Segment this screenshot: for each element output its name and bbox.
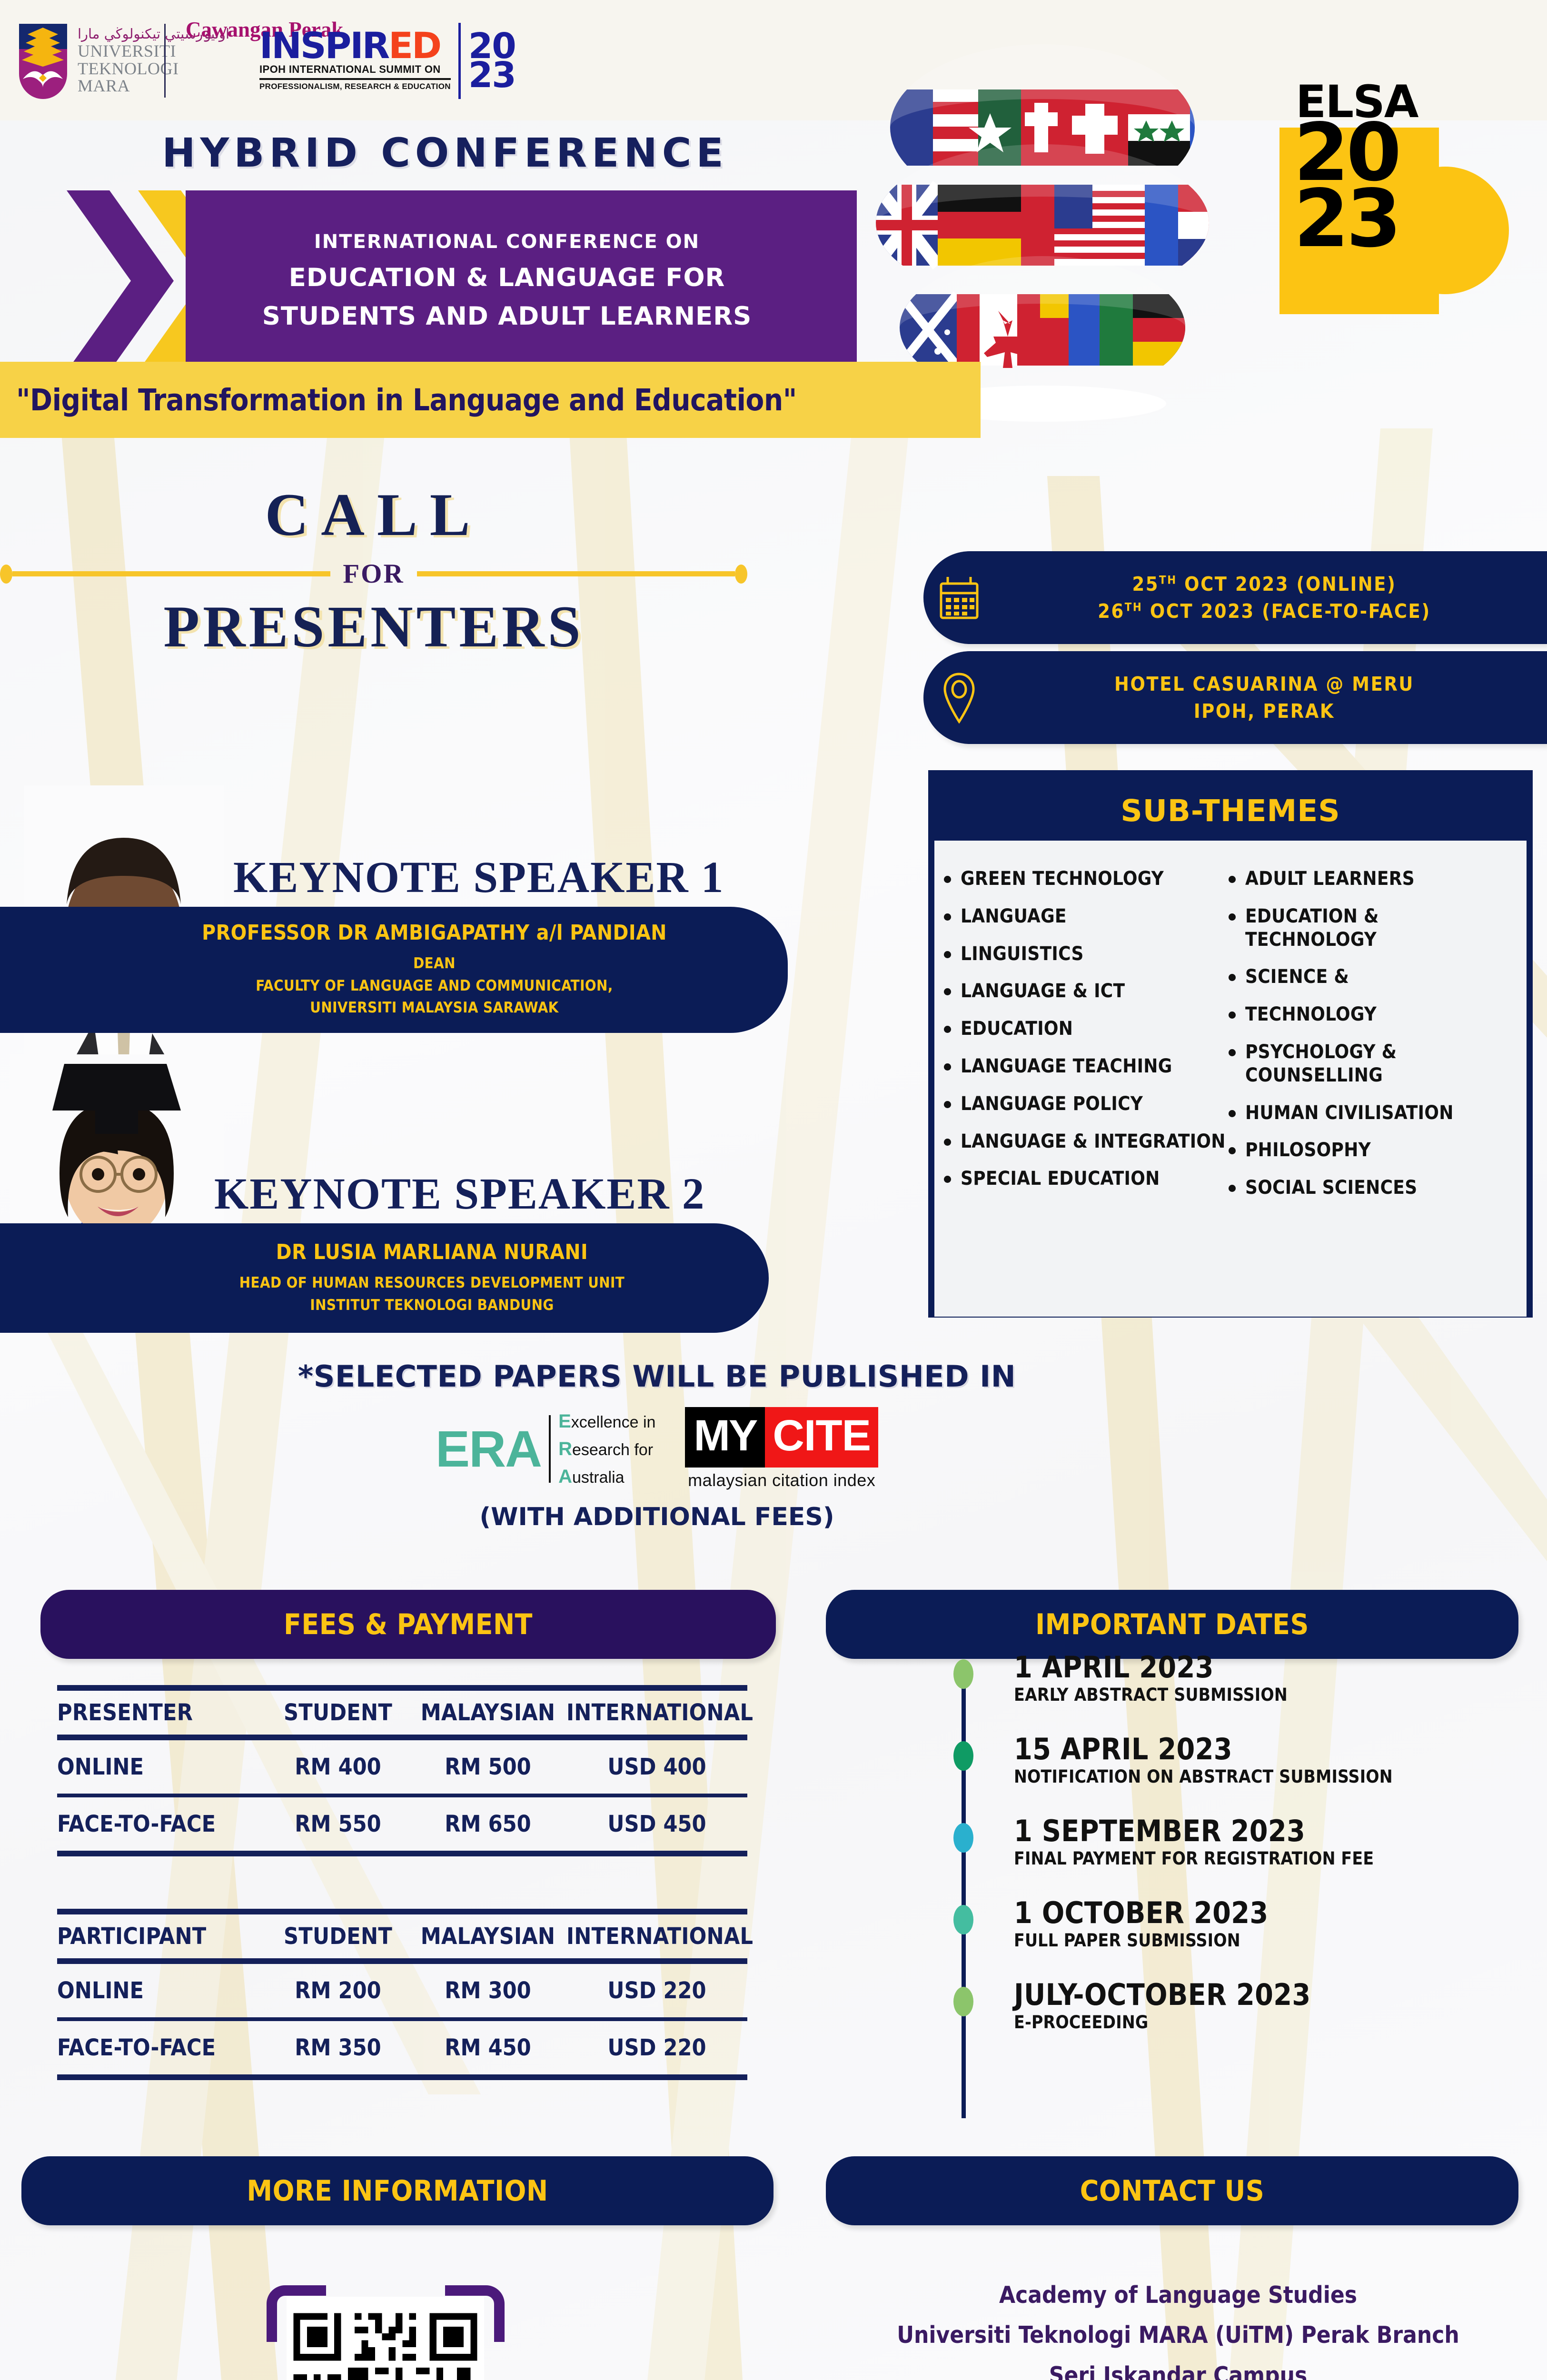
table-row-label: ONLINE [57, 1977, 267, 2004]
bullet-icon [944, 1026, 951, 1033]
call-word: CALL [0, 481, 747, 550]
event-date-line-2: 26TH OCT 2023 (FACE-TO-FACE) [995, 598, 1534, 625]
timeline-dot [953, 1987, 973, 2016]
table-header-cell: MALAYSIAN [409, 1923, 566, 1950]
subtheme-item: LANGUAGE & INTEGRATION [944, 1130, 1226, 1153]
inspired-word-b: ED [388, 24, 440, 67]
subtheme-label: EDUCATION [961, 1017, 1073, 1041]
era-line-1: Excellence in [558, 1408, 655, 1435]
timeline-item: 1 SEPTEMBER 2023FINAL PAYMENT FOR REGIST… [962, 1815, 1533, 1869]
timeline-item: 1 APRIL 2023EARLY ABSTRACT SUBMISSION [962, 1652, 1533, 1705]
conference-line-2: EDUCATION & LANGUAGE FOR [289, 263, 725, 292]
table-header-row: PARTICIPANTSTUDENTMALAYSIANINTERNATIONAL [57, 1914, 747, 1958]
table-cell-value: USD 400 [566, 1754, 747, 1780]
subtheme-item: EDUCATION & TECHNOLOGY [1229, 905, 1510, 952]
event-venue-text: HOTEL CASUARINA @ MERU IPOH, PERAK [995, 671, 1547, 724]
contact-section-title: CONTACT US [1080, 2174, 1265, 2208]
bullet-icon [1229, 1110, 1236, 1117]
timeline-axis [962, 1661, 966, 2118]
divider-cap-left [0, 565, 12, 584]
table-cell-value: RM 300 [409, 1977, 566, 2004]
era-line-1-initial: E [558, 1411, 571, 1432]
table-cell-value: RM 500 [409, 1754, 566, 1780]
location-pin-icon [923, 672, 995, 724]
era-divider [549, 1415, 551, 1483]
subtheme-item: PSYCHOLOGY & COUNSELLING [1229, 1041, 1510, 1087]
subthemes-title: SUB-THEMES [934, 776, 1527, 841]
table-header-cell: INTERNATIONAL [566, 1923, 747, 1950]
subtheme-item: LANGUAGE & ICT [944, 980, 1226, 1003]
table-rule [57, 2017, 747, 2021]
table-cell-value: USD 220 [566, 1977, 747, 2004]
table-header-cell: MALAYSIAN [409, 1699, 566, 1726]
subtheme-label: GREEN TECHNOLOGY [961, 867, 1164, 891]
more-info-section-header: MORE INFORMATION [21, 2156, 773, 2225]
summit-subtitle-2: PROFESSIONALISM, RESEARCH & EDUCATION [259, 82, 451, 91]
timeline-label: E-PROCEEDING [1014, 2012, 1533, 2033]
university-name-line-3: MARA [78, 77, 229, 95]
mycite-logo: MY CITE malaysian citation index [685, 1407, 878, 1490]
era-line-3-initial: A [558, 1466, 572, 1487]
table-rule [57, 1685, 747, 1691]
era-line-2: Research for [558, 1435, 655, 1463]
subtheme-label: LANGUAGE & ICT [961, 980, 1125, 1003]
important-dates-section-title: IMPORTANT DATES [1035, 1608, 1309, 1641]
inspired-wordmark: INSPIRED [259, 30, 440, 61]
mycite-my-block: MY [685, 1407, 765, 1468]
inspired-word-a: INSPIR [259, 24, 388, 67]
divider-cap-right [735, 565, 747, 584]
table-header-cell: PARTICIPANT [57, 1923, 267, 1950]
timeline-date: 15 APRIL 2023 [1014, 1734, 1533, 1765]
subtheme-label: EDUCATION & TECHNOLOGY [1245, 905, 1510, 952]
important-dates-timeline: 1 APRIL 2023EARLY ABSTRACT SUBMISSION15 … [962, 1652, 1533, 2061]
timeline-label: FULL PAPER SUBMISSION [1014, 1930, 1533, 1951]
subtheme-item: LANGUAGE [944, 905, 1226, 928]
era-line-2-initial: R [558, 1438, 572, 1459]
conference-title-band: INTERNATIONAL CONFERENCE ON EDUCATION & … [0, 190, 857, 371]
publication-logos: ERA Excellence in Research for Australia… [205, 1407, 1109, 1490]
subtheme-label: SCIENCE & [1245, 965, 1349, 989]
event-date-badge: 25TH OCT 2023 (ONLINE) 26TH OCT 2023 (FA… [923, 551, 1547, 644]
table-header-cell: STUDENT [267, 1923, 409, 1950]
table-cell-value: RM 350 [267, 2034, 409, 2061]
era-logo: ERA Excellence in Research for Australia [436, 1408, 655, 1490]
contact-line: Academy of Language Studies [838, 2275, 1518, 2315]
qr-code-icon[interactable] [287, 2297, 484, 2380]
table-header-row: PRESENTERSTUDENTMALAYSIANINTERNATIONAL [57, 1691, 747, 1735]
speaker-2-name: DR LUSIA MARLIANA NURANI [276, 1240, 588, 1264]
elsa-logo: ELSA 20 23 [1276, 76, 1476, 362]
conference-theme: "Digital Transformation in Language and … [16, 383, 797, 417]
timeline-item: 1 OCTOBER 2023FULL PAPER SUBMISSION [962, 1897, 1533, 1951]
event-date-text: 25TH OCT 2023 (ONLINE) 26TH OCT 2023 (FA… [995, 571, 1547, 625]
event-venue-badge: HOTEL CASUARINA @ MERU IPOH, PERAK [923, 651, 1547, 744]
event-date-line-1: 25TH OCT 2023 (ONLINE) [995, 571, 1534, 598]
poster-canvas: اونيۏرسيتي تيكنولوڬي مارا UNIVERSITI TEK… [0, 0, 1547, 2380]
speaker-1-role-2: FACULTY OF LANGUAGE AND COMMUNICATION, [256, 975, 613, 997]
calendar-icon [923, 575, 995, 621]
subtheme-label: TECHNOLOGY [1245, 1003, 1377, 1026]
speaker-1-role-1: DEAN [413, 952, 456, 975]
timeline-label: EARLY ABSTRACT SUBMISSION [1014, 1685, 1533, 1705]
speaker-2-role-2: INSTITUT TEKNOLOGI BANDUNG [310, 1294, 554, 1317]
subtheme-label: ADULT LEARNERS [1245, 867, 1415, 891]
hybrid-conference-title: HYBRID CONFERENCE [0, 129, 890, 176]
bullet-icon [944, 913, 951, 921]
table-cell-value: RM 550 [267, 1811, 409, 1837]
subtheme-label: PHILOSOPHY [1245, 1139, 1371, 1162]
mycite-blocks: MY CITE [685, 1407, 878, 1468]
table-row: ONLINERM 400RM 500USD 400 [57, 1740, 747, 1794]
timeline-date: 1 SEPTEMBER 2023 [1014, 1815, 1533, 1846]
era-line-3: Australia [558, 1463, 655, 1490]
conference-title-text: INTERNATIONAL CONFERENCE ON EDUCATION & … [190, 190, 823, 371]
contact-line: Universiti Teknologi MARA (UiTM) Perak B… [838, 2315, 1518, 2355]
table-row: FACE-TO-FACERM 550RM 650USD 450 [57, 1797, 747, 1851]
date1-number: 25 [1132, 573, 1160, 595]
contact-details: Academy of Language StudiesUniversiti Te… [838, 2275, 1518, 2380]
speaker-2-card: DR LUSIA MARLIANA NURANI HEAD OF HUMAN R… [0, 1223, 769, 1333]
publication-footnote: (WITH ADDITIONAL FEES) [205, 1503, 1109, 1531]
subtheme-label: LANGUAGE [961, 905, 1067, 928]
timeline-dot [953, 1741, 973, 1771]
subtheme-label: SPECIAL EDUCATION [961, 1167, 1160, 1190]
speaker-2-title: KEYNOTE SPEAKER 2 [214, 1169, 705, 1220]
subtheme-item: PHILOSOPHY [1229, 1139, 1510, 1162]
date2-suffix: TH [1125, 600, 1143, 614]
more-info-section-title: MORE INFORMATION [247, 2174, 548, 2208]
era-acronym: ERA [436, 1419, 541, 1478]
bullet-icon [944, 1101, 951, 1108]
bullet-icon [1229, 876, 1236, 883]
speaker-2-role-1: HEAD OF HUMAN RESOURCES DEVELOPMENT UNIT [239, 1272, 625, 1294]
summit-subtitle-1: IPOH INTERNATIONAL SUMMIT ON [259, 63, 441, 76]
bullet-icon [944, 876, 951, 883]
table-rule [57, 1851, 747, 1856]
conference-line-1: INTERNATIONAL CONFERENCE ON [314, 231, 700, 253]
subtheme-item: SPECIAL EDUCATION [944, 1167, 1226, 1190]
date2-rest: OCT 2023 (FACE-TO-FACE) [1142, 600, 1430, 623]
table-header-cell: PRESENTER [57, 1699, 267, 1726]
bullet-icon [1229, 1049, 1236, 1056]
timeline-item: JULY-OCTOBER 2023E-PROCEEDING [962, 1979, 1533, 2033]
subthemes-panel: SUB-THEMES GREEN TECHNOLOGYLANGUAGELINGU… [928, 770, 1533, 1318]
summit-divider [259, 78, 451, 80]
mycite-subtitle: malaysian citation index [688, 1470, 875, 1490]
table-cell-value: RM 400 [267, 1754, 409, 1780]
subtheme-label: PSYCHOLOGY & COUNSELLING [1245, 1041, 1510, 1087]
table-rule [57, 1958, 747, 1964]
date1-rest: OCT 2023 (ONLINE) [1177, 573, 1397, 595]
logo-divider [164, 24, 166, 98]
mycite-cite-block: CITE [765, 1407, 878, 1468]
table-row: FACE-TO-FACERM 350RM 450USD 220 [57, 2021, 747, 2074]
subtheme-item: ADULT LEARNERS [1229, 867, 1510, 891]
bullet-icon [944, 1063, 951, 1071]
timeline-label: NOTIFICATION ON ABSTRACT SUBMISSION [1014, 1766, 1533, 1787]
subtheme-item: EDUCATION [944, 1017, 1226, 1041]
table-row-label: FACE-TO-FACE [57, 2034, 267, 2061]
theme-strip: "Digital Transformation in Language and … [0, 362, 981, 438]
subtheme-label: HUMAN CIVILISATION [1245, 1101, 1454, 1125]
venue-line-1: HOTEL CASUARINA @ MERU [995, 671, 1534, 698]
elsa-year-bottom: 23 [1294, 186, 1398, 252]
era-expansion: Excellence in Research for Australia [558, 1408, 655, 1490]
venue-line-2: IPOH, PERAK [995, 698, 1534, 725]
speaker-1-title: KEYNOTE SPEAKER 1 [233, 852, 724, 903]
speaker-1-name: PROFESSOR DR AMBIGAPATHY a/l PANDIAN [202, 921, 667, 945]
university-name-line-1: UNIVERSITI [78, 42, 229, 60]
uitm-shield-icon [18, 23, 68, 99]
subtheme-label: LANGUAGE & INTEGRATION [961, 1130, 1226, 1153]
publication-section: *SELECTED PAPERS WILL BE PUBLISHED IN ER… [205, 1359, 1109, 1531]
table-cell-value: RM 450 [409, 2034, 566, 2061]
fees-table-participant: PARTICIPANTSTUDENTMALAYSIANINTERNATIONAL… [57, 1909, 747, 2080]
subthemes-column-right: ADULT LEARNERSEDUCATION & TECHNOLOGYSCIE… [1229, 867, 1510, 1307]
table-rule [57, 1735, 747, 1740]
elsa-year: 20 23 [1294, 120, 1398, 252]
timeline-label: FINAL PAYMENT FOR REGISTRATION FEE [1014, 1848, 1533, 1869]
fees-section-header: FEES & PAYMENT [40, 1590, 776, 1659]
subtheme-item: SCIENCE & [1229, 965, 1510, 989]
fees-table-presenter: PRESENTERSTUDENTMALAYSIANINTERNATIONALON… [57, 1685, 747, 1856]
bullet-icon [944, 988, 951, 995]
conference-line-3: STUDENTS AND ADULT LEARNERS [262, 302, 752, 331]
subthemes-list-container: GREEN TECHNOLOGYLANGUAGELINGUISTICSLANGU… [934, 841, 1527, 1317]
subtheme-item: LANGUAGE TEACHING [944, 1055, 1226, 1078]
publication-headline: *SELECTED PAPERS WILL BE PUBLISHED IN [205, 1359, 1109, 1394]
university-name-line-2: TEKNOLOGI [78, 60, 229, 78]
bullet-icon [1229, 913, 1236, 921]
bullet-icon [1229, 1185, 1236, 1192]
subtheme-item: HUMAN CIVILISATION [1229, 1101, 1510, 1125]
date2-number: 26 [1098, 600, 1125, 623]
subtheme-item: GREEN TECHNOLOGY [944, 867, 1226, 891]
subtheme-item: LANGUAGE POLICY [944, 1092, 1226, 1116]
divider-rule-left [12, 571, 330, 576]
subtheme-label: SOCIAL SCIENCES [1245, 1176, 1417, 1200]
era-line-3-rest: ustralia [572, 1468, 625, 1487]
table-cell-value: USD 450 [566, 1811, 747, 1837]
call-for-presenters: CALL FOR PRESENTERS [0, 481, 747, 661]
subthemes-column-left: GREEN TECHNOLOGYLANGUAGELINGUISTICSLANGU… [944, 867, 1226, 1307]
timeline-date: 1 OCTOBER 2023 [1014, 1897, 1533, 1928]
timeline-dot [953, 1659, 973, 1689]
for-word: FOR [330, 558, 416, 589]
table-row: ONLINERM 200RM 300USD 220 [57, 1964, 747, 2017]
subtheme-label: LINGUISTICS [961, 942, 1084, 966]
summit-vertical-bar [458, 23, 461, 99]
for-divider-row: FOR [0, 558, 747, 589]
important-dates-section-header: IMPORTANT DATES [826, 1590, 1518, 1659]
qr-code-block[interactable] [267, 2285, 505, 2380]
bullet-icon [944, 1176, 951, 1183]
table-header-cell: STUDENT [267, 1699, 409, 1726]
timeline-items: 1 APRIL 2023EARLY ABSTRACT SUBMISSION15 … [962, 1652, 1533, 2033]
table-cell-value: RM 650 [409, 1811, 566, 1837]
inspired-logo: INSPIRED IPOH INTERNATIONAL SUMMIT ON PR… [259, 23, 516, 99]
era-line-1-rest: xcellence in [571, 1413, 656, 1431]
subtheme-item: TECHNOLOGY [1229, 1003, 1510, 1026]
date1-suffix: TH [1159, 573, 1177, 586]
summit-year-bottom: 23 [468, 61, 516, 90]
timeline-dot [953, 1905, 973, 1934]
fees-section-title: FEES & PAYMENT [284, 1608, 533, 1641]
table-cell-value: RM 200 [267, 1977, 409, 2004]
table-row-label: FACE-TO-FACE [57, 1811, 267, 1837]
speaker-1-card: PROFESSOR DR AMBIGAPATHY a/l PANDIAN DEA… [0, 907, 788, 1033]
bullet-icon [944, 951, 951, 958]
table-rule [57, 2074, 747, 2080]
bullet-icon [944, 1139, 951, 1146]
contact-section-header: CONTACT US [826, 2156, 1518, 2225]
table-rule [57, 1909, 747, 1914]
timeline-item: 15 APRIL 2023NOTIFICATION ON ABSTRACT SU… [962, 1734, 1533, 1787]
subtheme-label: LANGUAGE POLICY [961, 1092, 1143, 1116]
era-line-2-rest: esearch for [572, 1441, 653, 1459]
table-rule [57, 1794, 747, 1797]
presenters-word: PRESENTERS [0, 593, 747, 661]
table-cell-value: USD 220 [566, 2034, 747, 2061]
timeline-date: JULY-OCTOBER 2023 [1014, 1979, 1533, 2010]
table-row-label: ONLINE [57, 1754, 267, 1780]
subtheme-item: LINGUISTICS [944, 942, 1226, 966]
divider-rule-right [417, 571, 735, 576]
subtheme-item: SOCIAL SCIENCES [1229, 1176, 1510, 1200]
bullet-icon [1229, 1011, 1236, 1019]
bullet-icon [1229, 1147, 1236, 1154]
bullet-icon [1229, 974, 1236, 981]
speaker-1-role-3: UNIVERSITI MALAYSIA SARAWAK [310, 997, 558, 1019]
contact-line: Seri Iskandar Campus [838, 2356, 1518, 2380]
table-header-cell: INTERNATIONAL [566, 1699, 747, 1726]
timeline-date: 1 APRIL 2023 [1014, 1652, 1533, 1683]
timeline-dot [953, 1823, 973, 1853]
subtheme-label: LANGUAGE TEACHING [961, 1055, 1172, 1078]
